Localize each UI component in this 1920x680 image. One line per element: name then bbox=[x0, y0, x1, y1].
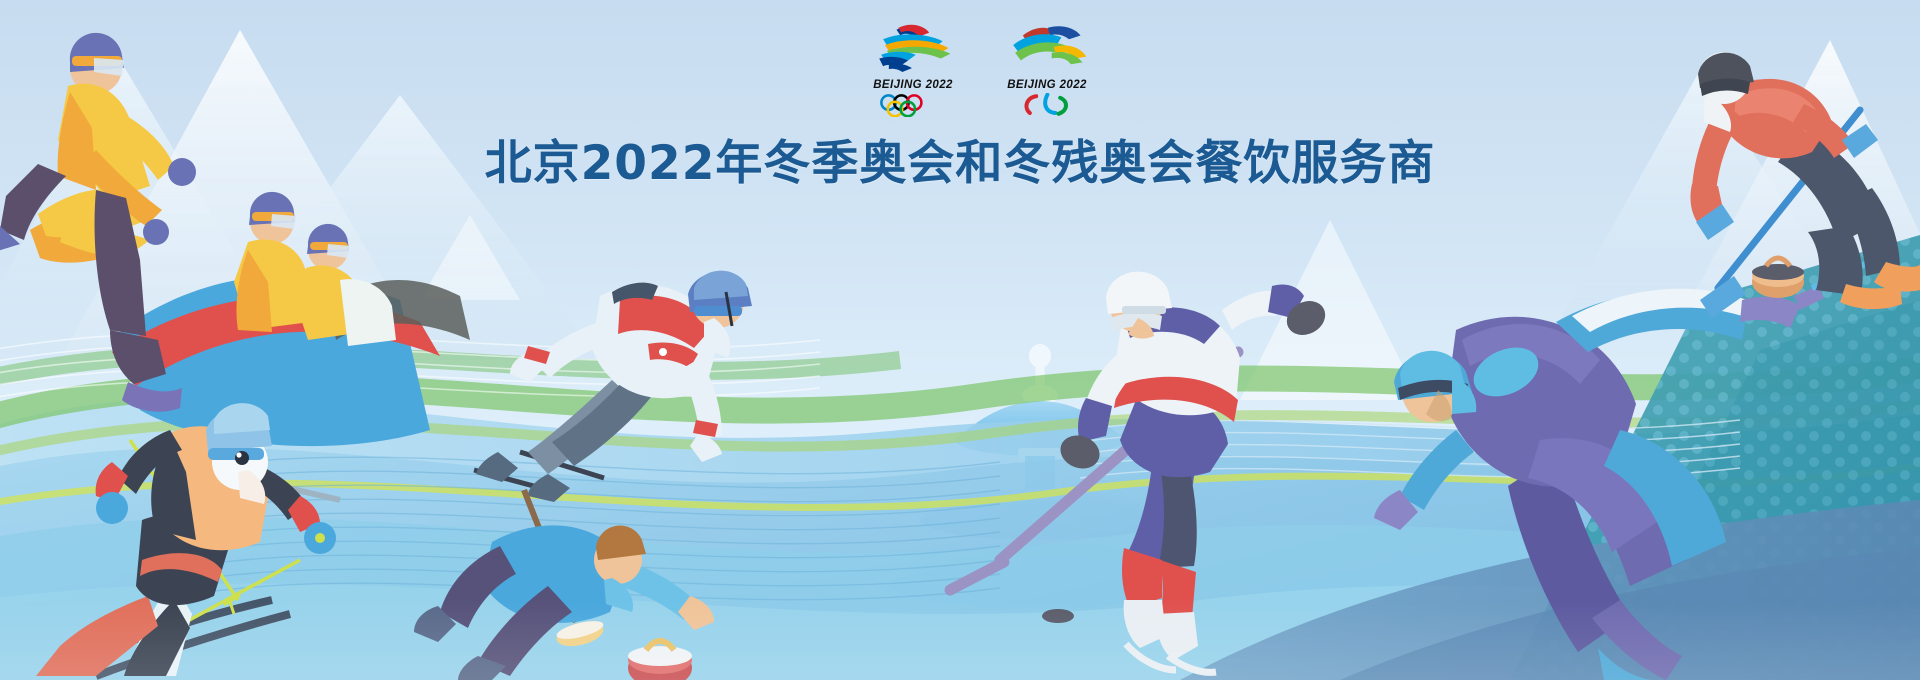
agitos-icon bbox=[1009, 93, 1086, 117]
page-title: 北京2022年冬季奥会和冬残奥会餐饮服务商 bbox=[0, 124, 1920, 193]
olympic-emblem: BEIJING 2022 bbox=[860, 22, 966, 122]
emblem-group: BEIJING 2022 BEIJING 20 bbox=[860, 22, 1100, 122]
olympic-banner: BEIJING 2022 BEIJING 20 bbox=[0, 0, 1920, 680]
olympic-rings-icon bbox=[875, 93, 952, 117]
paralympic-wordmark: BEIJING 2022 bbox=[994, 79, 1100, 91]
olympic-wordmark: BEIJING 2022 bbox=[860, 79, 966, 91]
olympic-dream-ribbon-icon bbox=[860, 22, 966, 72]
paralympic-dream-ribbon-icon bbox=[994, 22, 1100, 72]
paralympic-emblem: BEIJING 2022 bbox=[994, 22, 1100, 122]
